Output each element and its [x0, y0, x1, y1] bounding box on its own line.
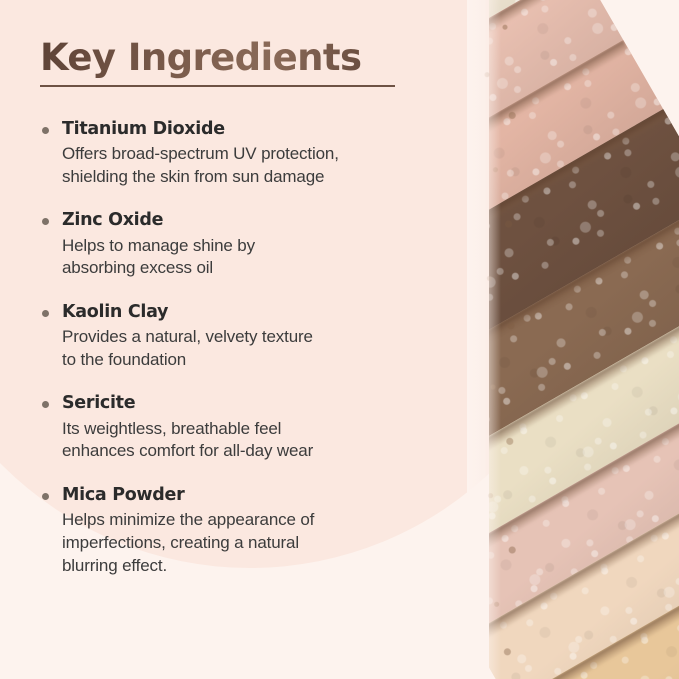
list-item: Kaolin ClayProvides a natural, velvety t… [40, 300, 460, 372]
ingredient-description: Helps to manage shine by absorbing exces… [62, 235, 460, 280]
list-item: Titanium DioxideOffers broad-spectrum UV… [40, 117, 460, 189]
ingredient-description: Helps minimize the appearance of imperfe… [62, 509, 460, 577]
list-item: Mica PowderHelps minimize the appearance… [40, 483, 460, 577]
list-item: Zinc OxideHelps to manage shine by absor… [40, 208, 460, 280]
bullet-icon [42, 218, 49, 225]
ingredient-name: Kaolin Clay [62, 300, 460, 325]
ingredient-name: Zinc Oxide [62, 208, 460, 233]
ingredient-list: Titanium DioxideOffers broad-spectrum UV… [40, 117, 460, 578]
ingredient-description: Its weightless, breathable feel enhances… [62, 418, 460, 463]
title-underline [40, 85, 395, 87]
ingredient-name: Sericite [62, 391, 460, 416]
powder-swatch-panel [489, 0, 679, 679]
ingredient-description: Offers broad-spectrum UV protection, shi… [62, 143, 460, 188]
page-title: Key Ingredients [40, 36, 361, 83]
list-item: SericiteIts weightless, breathable feel … [40, 391, 460, 463]
powder-swatch-stripes [489, 0, 679, 679]
title-block: Key Ingredients [40, 36, 460, 87]
ingredient-name: Titanium Dioxide [62, 117, 460, 142]
bullet-icon [42, 127, 49, 134]
bullet-icon [42, 310, 49, 317]
ingredient-name: Mica Powder [62, 483, 460, 508]
bullet-icon [42, 493, 49, 500]
ingredient-description: Provides a natural, velvety texture to t… [62, 326, 460, 371]
bullet-icon [42, 401, 49, 408]
ingredients-content: Key Ingredients Titanium DioxideOffers b… [40, 36, 460, 577]
